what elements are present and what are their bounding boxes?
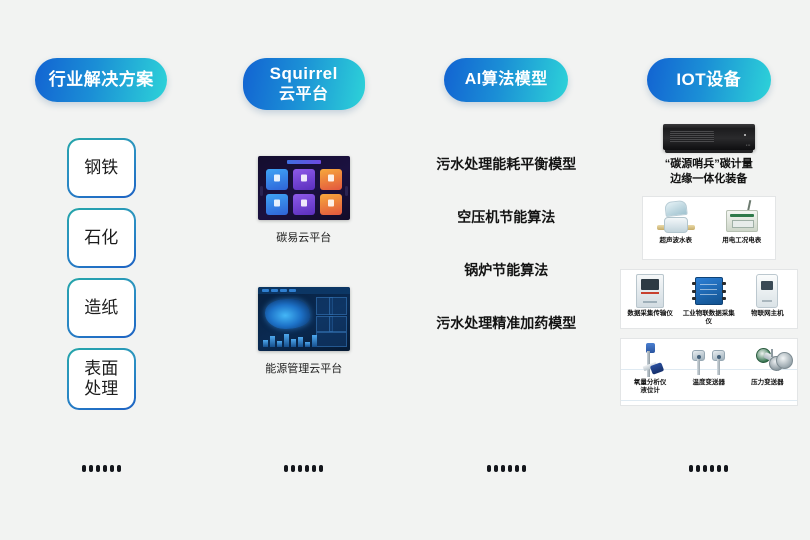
iot-device-group-transmitters: 氧量分析仪 液位计 温度变送器	[620, 338, 798, 406]
header-label: 行业解决方案	[49, 70, 154, 91]
device-label: 温度变送器	[692, 379, 725, 387]
device-label: 氧量分析仪 液位计	[634, 379, 667, 396]
platform-item-carbon-cloud[interactable]: 碳易云平台	[258, 156, 350, 245]
more-indicator-dots	[284, 465, 323, 472]
rack-server-icon: ▪▪▪	[663, 124, 755, 150]
temperature-transmitter-icon	[681, 343, 737, 377]
algorithm-item-boiler-energy-saving[interactable]: 锅炉节能算法	[464, 260, 548, 280]
device-electric-meter[interactable]: 用电工况电表	[714, 201, 770, 245]
device-label: 物联网主机	[751, 310, 784, 318]
solution-architecture-board: 行业解决方案 钢铁 石化 造纸 表面 处理 Squir	[0, 0, 810, 540]
device-label: 用电工况电表	[722, 237, 761, 245]
algorithm-item-wastewater-energy-balance[interactable]: 污水处理能耗平衡模型	[436, 154, 576, 174]
column-iot-devices: IOT设备 ▪▪▪ “碳源哨兵”碳计量 边缘一体化装备	[608, 0, 810, 540]
column-squirrel-cloud-platform: Squirrel 云平台 碳易云平台	[203, 0, 406, 540]
header-label-line2: 云平台	[279, 85, 329, 105]
header-label: IOT设备	[676, 70, 741, 91]
device-data-acquisition-transmitter[interactable]: 数据采集传输仪	[622, 274, 678, 318]
iot-hero-caption-line1: “碳源哨兵”碳计量	[665, 158, 753, 170]
industry-card-list: 钢铁 石化 造纸 表面 处理	[68, 140, 134, 408]
iot-gateway-host-icon	[739, 274, 795, 308]
iot-device-groups: ▪▪▪ “碳源哨兵”碳计量 边缘一体化装备 超声波水表	[620, 124, 798, 406]
iot-hero-device[interactable]: ▪▪▪ “碳源哨兵”碳计量 边缘一体化装备	[663, 124, 755, 187]
column-industry-solutions: 行业解决方案 钢铁 石化 造纸 表面 处理	[0, 0, 203, 540]
industry-card-papermaking[interactable]: 造纸	[68, 280, 134, 336]
industry-card-label: 钢铁	[84, 158, 118, 178]
more-indicator-dots	[82, 465, 121, 472]
platform-screenshot-list: 碳易云平台	[258, 156, 350, 376]
platform-item-energy-management[interactable]: 能源管理云平台	[258, 287, 350, 376]
header-pill-ai-algorithm-models[interactable]: AI算法模型	[444, 58, 568, 102]
device-pressure-transmitter[interactable]: 压力变送器	[739, 343, 795, 387]
column-ai-algorithm-models: AI算法模型 污水处理能耗平衡模型 空压机节能算法 锅炉节能算法 污水处理精准加…	[405, 0, 608, 540]
header-pill-industry-solutions[interactable]: 行业解决方案	[35, 58, 167, 102]
device-label: 数据采集传输仪	[627, 310, 673, 318]
header-label-line1: Squirrel	[270, 64, 338, 85]
device-label-line2: 液位计	[640, 387, 660, 394]
industry-card-surface-treatment[interactable]: 表面 处理	[68, 350, 134, 408]
header-pill-iot-devices[interactable]: IOT设备	[647, 58, 771, 102]
device-label-line1: 氧量分析仪	[634, 379, 667, 386]
oxygen-analyzer-level-gauge-icon	[622, 343, 678, 377]
algorithm-item-wastewater-precise-dosing[interactable]: 污水处理精准加药模型	[436, 313, 576, 333]
device-temperature-transmitter[interactable]: 温度变送器	[681, 343, 737, 387]
energy-management-dashboard-image	[258, 287, 350, 351]
more-indicator-dots	[689, 465, 728, 472]
industry-card-steel[interactable]: 钢铁	[68, 140, 134, 196]
data-acquisition-cabinet-icon	[622, 274, 678, 308]
industrial-iot-module-icon	[681, 274, 737, 308]
ultrasonic-water-meter-icon	[648, 201, 704, 235]
industry-card-label-line2: 处理	[84, 379, 118, 398]
header-pill-squirrel-cloud[interactable]: Squirrel 云平台	[243, 58, 365, 110]
iot-device-group-meters: 超声波水表 用电工况电表	[642, 196, 776, 260]
algorithm-item-air-compressor-saving[interactable]: 空压机节能算法	[457, 207, 555, 227]
industry-card-label: 造纸	[84, 298, 118, 318]
device-label: 压力变送器	[751, 379, 784, 387]
industry-card-label-line1: 表面	[84, 359, 118, 378]
electric-meter-icon	[714, 201, 770, 235]
pressure-transmitter-icon	[739, 343, 795, 377]
more-indicator-dots	[487, 465, 526, 472]
iot-hero-caption: “碳源哨兵”碳计量 边缘一体化装备	[665, 157, 753, 187]
platform-caption: 碳易云平台	[276, 229, 331, 245]
device-oxygen-analyzer[interactable]: 氧量分析仪 液位计	[622, 343, 678, 396]
iot-hero-caption-line2: 边缘一体化装备	[670, 173, 747, 185]
device-iot-gateway-host[interactable]: 物联网主机	[739, 274, 795, 318]
device-ultrasonic-water-meter[interactable]: 超声波水表	[648, 201, 704, 245]
industry-card-label: 表面 处理	[84, 359, 118, 399]
industry-card-petrochemical[interactable]: 石化	[68, 210, 134, 266]
iot-device-group-collectors: 数据采集传输仪 工业物联数据采集仪	[620, 269, 798, 329]
device-label: 超声波水表	[660, 237, 693, 245]
platform-caption: 能源管理云平台	[265, 360, 342, 376]
header-label: AI算法模型	[465, 70, 548, 90]
device-label: 工业物联数据采集仪	[681, 310, 737, 327]
industry-card-label: 石化	[84, 228, 118, 248]
algorithm-list: 污水处理能耗平衡模型 空压机节能算法 锅炉节能算法 污水处理精准加药模型	[436, 154, 576, 333]
device-industrial-iot-collector[interactable]: 工业物联数据采集仪	[681, 274, 737, 327]
carbon-cloud-dashboard-image	[258, 156, 350, 220]
